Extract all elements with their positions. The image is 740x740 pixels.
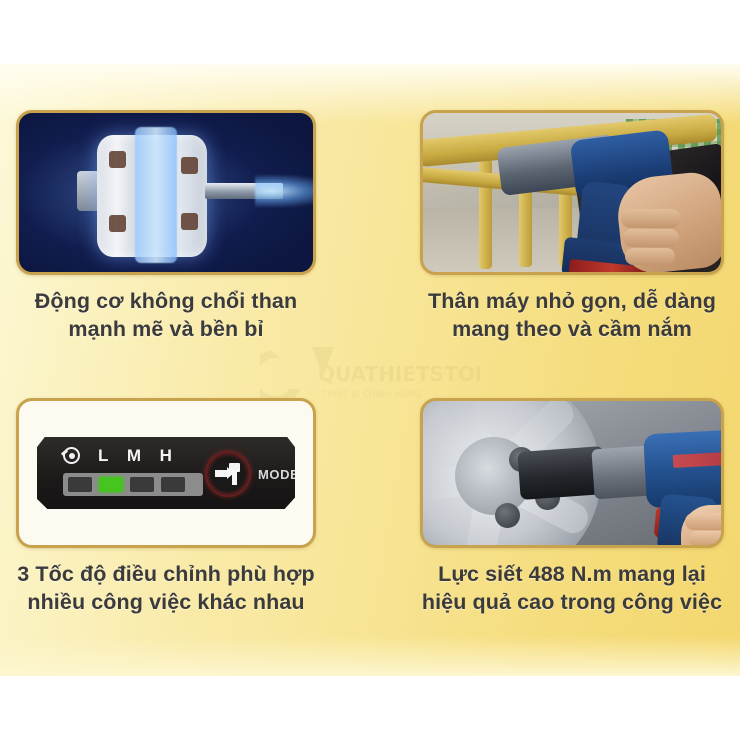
mode-button[interactable] bbox=[205, 451, 251, 497]
worker-finger bbox=[625, 248, 675, 265]
motor-slot bbox=[109, 151, 126, 168]
control-panel-label-row: L M H bbox=[63, 447, 172, 464]
caption-line-2: mang theo và cầm nắm bbox=[420, 316, 724, 344]
motor-slot bbox=[181, 213, 198, 230]
feature-card-high-torque: Lực siết 488 N.m mang lại hiệu quả cao t… bbox=[420, 398, 724, 616]
motor-scene bbox=[19, 113, 313, 272]
motor-laminated-stack bbox=[135, 127, 177, 263]
caption-line-1: Thân máy nhỏ gọn, dễ dàng bbox=[420, 288, 724, 316]
feature-image-high-torque bbox=[420, 398, 724, 548]
caption-line-1: Động cơ không chổi than bbox=[16, 288, 316, 316]
motor-slot bbox=[181, 157, 198, 174]
feature-grid: Động cơ không chổi than mạnh mẽ và bền b… bbox=[0, 0, 740, 740]
bolt-head-part bbox=[229, 463, 240, 472]
speed-segment-3 bbox=[130, 477, 154, 492]
tool-control-panel: L M H bbox=[37, 437, 295, 509]
feature-card-three-speed-control: L M H bbox=[16, 398, 316, 616]
motor-energy-beam bbox=[255, 175, 316, 207]
car-wheel-scene bbox=[423, 401, 721, 545]
mode-control-group: MODE bbox=[205, 451, 299, 497]
bolt-drive-icon bbox=[215, 463, 241, 485]
feature-card-brushless-motor: Động cơ không chổi than mạnh mẽ và bền b… bbox=[16, 110, 316, 343]
speed-segment-2 bbox=[99, 477, 123, 492]
feature-image-three-speed-control: L M H bbox=[16, 398, 316, 548]
caption-line-1: Lực siết 488 N.m mang lại bbox=[420, 561, 724, 589]
feature-caption-brushless-motor: Động cơ không chổi than mạnh mẽ và bền b… bbox=[16, 288, 316, 343]
feature-caption-high-torque: Lực siết 488 N.m mang lại hiệu quả cao t… bbox=[420, 561, 724, 616]
worker-finger bbox=[621, 209, 681, 228]
caption-line-2: hiệu quả cao trong công việc bbox=[420, 589, 724, 617]
caption-line-1: 3 Tốc độ điều chỉnh phù hợp bbox=[16, 561, 316, 589]
feature-card-compact-body: Thân máy nhỏ gọn, dễ dàng mang theo và c… bbox=[420, 110, 724, 343]
speed-indicator-bar bbox=[63, 473, 203, 496]
page-canvas: QUATHIETSTORE THIET BI CHINH HANG bbox=[0, 0, 740, 740]
speed-segment-4 bbox=[161, 477, 185, 492]
operator-finger bbox=[685, 513, 724, 530]
wheel-lug-nut bbox=[495, 503, 520, 528]
feature-image-compact-body bbox=[420, 110, 724, 275]
wrench-brand-logo bbox=[673, 451, 724, 468]
feature-caption-compact-body: Thân máy nhỏ gọn, dễ dàng mang theo và c… bbox=[420, 288, 724, 343]
speed-label-medium: M bbox=[127, 447, 142, 464]
mode-button-label: MODE bbox=[258, 467, 299, 482]
scaffolding-scene bbox=[423, 113, 721, 272]
caption-line-2: nhiều công việc khác nhau bbox=[16, 589, 316, 617]
worker-finger bbox=[623, 229, 679, 247]
bolt-arrow-part bbox=[215, 470, 228, 477]
speed-segment-1 bbox=[68, 477, 92, 492]
feature-caption-three-speed-control: 3 Tốc độ điều chỉnh phù hợp nhiều công v… bbox=[16, 561, 316, 616]
motor-slot bbox=[109, 215, 126, 232]
feature-image-brushless-motor bbox=[16, 110, 316, 275]
operator-finger bbox=[689, 531, 724, 547]
caption-line-2: mạnh mẽ và bền bỉ bbox=[16, 316, 316, 344]
speed-label-high: H bbox=[160, 447, 173, 464]
speed-label-low: L bbox=[98, 447, 109, 464]
battery-gauge-icon bbox=[63, 447, 80, 464]
bolt-shank-part bbox=[232, 472, 237, 485]
